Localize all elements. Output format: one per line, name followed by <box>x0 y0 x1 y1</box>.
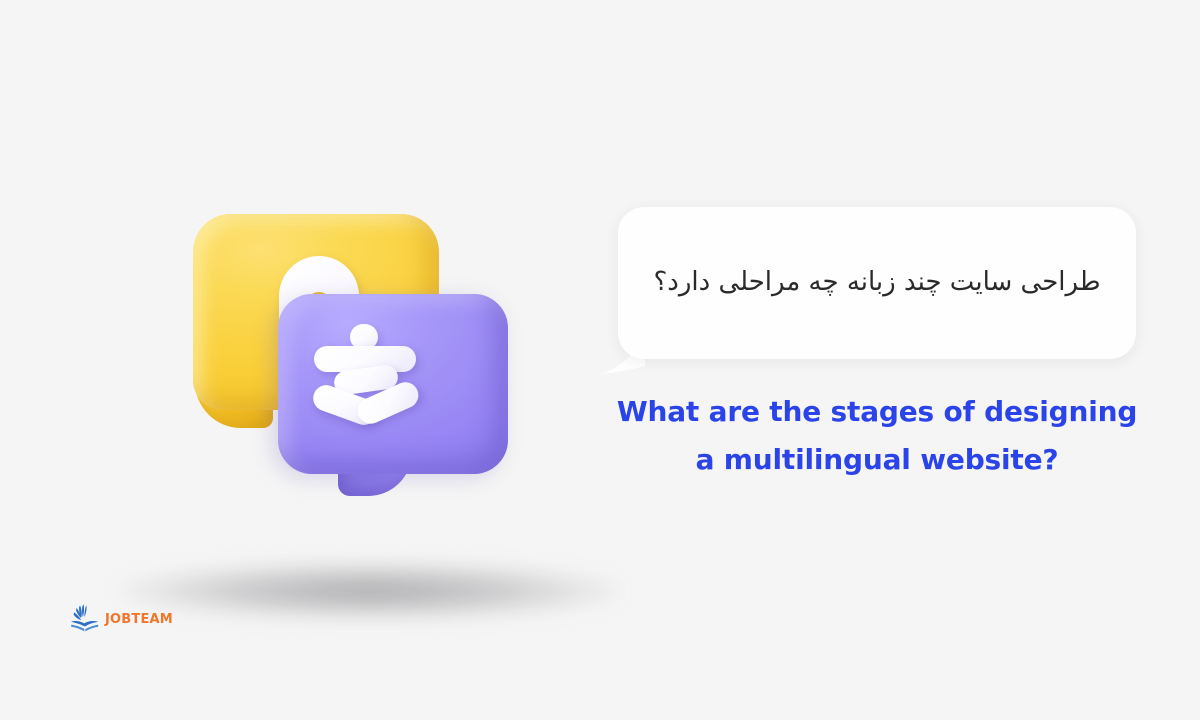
chat-bubbles-illustration <box>178 196 538 526</box>
english-question-caption: What are the stages of designing a multi… <box>612 388 1142 484</box>
illustration-ground-shadow <box>120 562 620 620</box>
page-canvas: طراحی سایت چند زبانه چه مراحلی دارد؟ Wha… <box>0 0 1200 720</box>
open-book-with-wings-icon <box>68 602 102 636</box>
jobteam-logo[interactable]: JOBTEAM <box>68 598 178 640</box>
persian-question-bubble: طراحی سایت چند زبانه چه مراحلی دارد؟ <box>618 207 1136 359</box>
persian-question-text: طراحی سایت چند زبانه چه مراحلی دارد؟ <box>618 207 1136 359</box>
logo-wordmark: JOBTEAM <box>105 612 173 627</box>
chinese-wen-glyph-icon <box>310 324 422 444</box>
